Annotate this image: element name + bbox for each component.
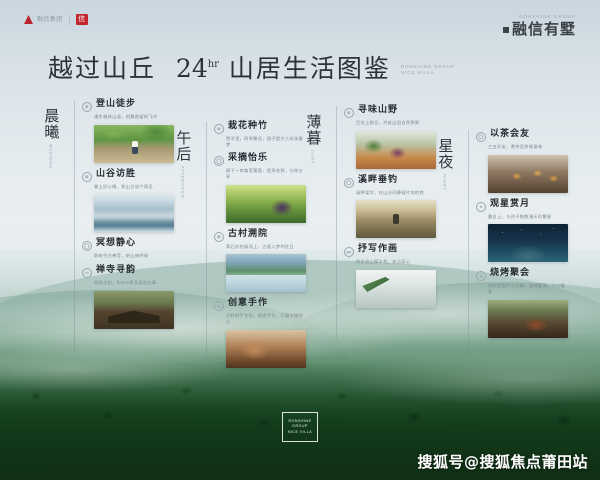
item-name: 抒写作画: [358, 245, 398, 255]
logo-bottom-line1: RONSHINE GROUP: [283, 419, 317, 430]
column-heading-night: 星夜 NIGHT: [428, 138, 462, 190]
list-item[interactable]: 烧烤聚会 园院里围炉火升腾，滋味暖流，人心暖意: [476, 269, 568, 337]
tea-icon: [476, 132, 486, 142]
item-desc: 舌尖上鲜见，共赴山田自然原鲜: [356, 120, 436, 126]
item-thumbnail-grapes[interactable]: [226, 185, 306, 223]
item-desc: 漫步森林山道，把晨跑留给飞鸟: [94, 114, 174, 120]
item-desc: 聆听空谷禅音，听山林呼吸: [94, 253, 174, 259]
column-heading-morning: 晨曦 MORNING: [34, 108, 68, 169]
watermark: 搜狐号@搜狐焦点莆田站: [417, 451, 588, 472]
item-thumbnail-tea[interactable]: [488, 155, 568, 193]
logo-right-cn-text: 融信有墅: [512, 20, 576, 38]
title-en-line2: NICE VILLA: [401, 70, 455, 77]
item-desc: 斑驳古刹，благо青苔诉说往事: [94, 280, 174, 286]
item-desc: 三五好友，煮茶话茶香意味: [488, 144, 568, 150]
hand-icon: [214, 301, 224, 311]
item-thumbnail-misty-valley[interactable]: [94, 194, 174, 232]
column-items: 栽花种竹 院子里，四季繁花，园子是大人的孩童梦 采摘怡乐 摘下一串紫莹葡萄，是采…: [214, 122, 306, 375]
list-item[interactable]: 古村溯院 青石阶拾级而上，古屋入梦的往日: [214, 230, 306, 293]
item-thumbnail-barbecue[interactable]: [488, 300, 568, 338]
bar-icon: [82, 268, 92, 278]
item-name: 观星赏月: [490, 200, 530, 210]
star-icon: [476, 202, 486, 212]
item-desc: 古朴的手艺机，细造手作，打磨学做的心: [226, 313, 306, 324]
column-items: 以茶会友 三五好友，煮茶话茶香意味 观星赏月 露台上，与孩子细数漫天的繁星 烧烤…: [476, 130, 568, 345]
title-en-block: RONSHINE GROUP NICE VILLA: [401, 64, 455, 82]
title-number: 24: [176, 54, 208, 83]
column-heading-en: DUSK: [311, 150, 316, 164]
item-name: 登山徒步: [96, 100, 136, 110]
item-thumbnail-temple[interactable]: [94, 291, 174, 329]
list-item[interactable]: 创意手作 古朴的手艺机，细造手作，打磨学做的心: [214, 299, 306, 367]
title-suffix: 山居生活图鉴: [229, 54, 391, 83]
item-name: 以茶会友: [490, 130, 530, 140]
sun-icon: [82, 102, 92, 112]
item-desc: 掌上好心情，和山谷说个再见: [94, 184, 174, 190]
item-desc: 院子里，四季繁花，园子是大人的孩童梦: [226, 136, 306, 147]
list-item[interactable]: 观星赏月 露台上，与孩子细数漫天的繁星: [476, 200, 568, 263]
logo-divider: [69, 15, 70, 25]
column-heading-en: NIGHT: [443, 174, 448, 190]
logo-right-cn: 融信有墅: [503, 22, 576, 37]
poster-canvas: 融信集团 信 RONSHINE GROUP 融信有墅 越过山丘 24hr 山居生…: [0, 0, 600, 480]
item-thumbnail-starry-night[interactable]: [488, 224, 568, 262]
logo-bottom-line2: NICE VILLA: [283, 430, 317, 435]
list-item[interactable]: 冥想静心 聆听空谷禅音，听山林呼吸: [82, 239, 174, 259]
title-en-line1: RONSHINE GROUP: [401, 64, 455, 71]
title-prefix: 越过山丘: [48, 54, 156, 83]
sprout-icon: [344, 108, 354, 118]
column-heading-afternoon: 午后 AFTERNOON: [166, 130, 200, 198]
item-name: 山谷访胜: [96, 170, 136, 180]
list-item[interactable]: 寻味山野 舌尖上鲜见，共赴山田自然原鲜: [344, 106, 436, 169]
column-divider: [336, 106, 337, 338]
column-divider: [74, 100, 75, 352]
item-thumbnail-handcraft[interactable]: [226, 330, 306, 368]
item-name: 采摘怡乐: [228, 154, 268, 164]
item-desc: 园院里围炉火升腾，滋味暖流，人心暖意: [488, 283, 568, 294]
item-name: 烧烤聚会: [490, 269, 530, 279]
column-heading-cn: 星夜: [437, 138, 454, 170]
list-item[interactable]: 抒写作画 纸花画山摩水色，妄点蕊心: [344, 245, 436, 308]
item-thumbnail-village-river[interactable]: [226, 254, 306, 292]
item-name: 冥想静心: [96, 239, 136, 249]
column-heading-dusk: 薄暮 DUSK: [296, 114, 330, 164]
logo-bottom-frame: RONSHINE GROUP NICE VILLA: [282, 412, 318, 442]
list-item[interactable]: 禅寺寻韵 斑驳古刹，благо青苔诉说往事: [82, 266, 174, 329]
house-icon: [214, 232, 224, 242]
item-desc: 露台上，与孩子细数漫天的繁星: [488, 214, 568, 220]
column-heading-en: MORNING: [49, 144, 54, 169]
column-heading-cn: 午后: [175, 130, 192, 162]
item-thumbnail-fishing[interactable]: [356, 200, 436, 238]
item-thumbnail-vegetables[interactable]: [356, 131, 436, 169]
fish-icon: [344, 178, 354, 188]
leaf-icon: [82, 172, 92, 182]
list-item[interactable]: 栽花种竹 院子里，四季繁花，园子是大人的孩童梦: [214, 122, 306, 147]
list-item[interactable]: 采摘怡乐 摘下一串紫莹葡萄，是采吃鲜，与你分享: [214, 154, 306, 222]
logo-bottom-text: RONSHINE GROUP NICE VILLA: [283, 419, 317, 435]
logo-top-right: RONSHINE GROUP 融信有墅: [503, 14, 576, 37]
timeline-columns: 晨曦 MORNING 登山徒步 漫步森林山道，把晨跑留给飞鸟 山谷访胜 掌上好心…: [0, 100, 600, 410]
column-heading-cn: 薄暮: [305, 114, 322, 146]
item-name: 溪畔垂钓: [358, 176, 398, 186]
list-item[interactable]: 登山徒步 漫步森林山道，把晨跑留给飞鸟: [82, 100, 174, 163]
column-items: 登山徒步 漫步森林山道，把晨跑留给飞鸟 山谷访胜 掌上好心情，和山谷说个再见 冥…: [82, 100, 174, 336]
item-desc: 溪畔架竿，在山谷间静候片刻的悠: [356, 190, 436, 196]
item-name: 古村溯院: [228, 230, 268, 240]
pen-icon: [344, 247, 354, 257]
ronshine-triangle-icon: [24, 15, 33, 24]
logo-top-left: 融信集团 信: [24, 14, 88, 25]
item-desc: 摘下一串紫莹葡萄，是采吃鲜，与你分享: [226, 168, 306, 179]
list-item[interactable]: 山谷访胜 掌上好心情，和山谷说个再见: [82, 170, 174, 233]
column-divider: [468, 130, 469, 356]
list-item[interactable]: 以茶会友 三五好友，煮茶话茶香意味: [476, 130, 568, 193]
flower-icon: [214, 124, 224, 134]
page-title-row: 越过山丘 24hr 山居生活图鉴 RONSHINE GROUP NICE VIL…: [48, 56, 455, 81]
logo-left-group-name: 融信集团: [37, 17, 63, 23]
column-heading-cn: 晨曦: [43, 108, 60, 140]
grape-icon: [214, 156, 224, 166]
list-item[interactable]: 溪畔垂钓 溪畔架竿，在山谷间静候片刻的悠: [344, 176, 436, 239]
title-superscript: hr: [208, 59, 219, 70]
item-name: 创意手作: [228, 299, 268, 309]
item-thumbnail-trail-runner[interactable]: [94, 125, 174, 163]
item-name: 寻味山野: [358, 106, 398, 116]
item-name: 禅寺寻韵: [96, 266, 136, 276]
item-desc: 纸花画山摩水色，妄点蕊心: [356, 259, 436, 265]
logo-square-icon: [503, 27, 509, 33]
item-name: 栽花种竹: [228, 122, 268, 132]
flame-icon: [476, 271, 486, 281]
item-thumbnail-painting[interactable]: [356, 270, 436, 308]
column-items: 寻味山野 舌尖上鲜见，共赴山田自然原鲜 溪畔垂钓 溪畔架竿，在山谷间静候片刻的悠…: [344, 106, 436, 315]
column-divider: [206, 122, 207, 366]
logo-left-badge: 信: [76, 14, 88, 25]
column-heading-en: AFTERNOON: [181, 166, 186, 198]
page-title: 越过山丘 24hr 山居生活图鉴: [48, 56, 391, 81]
ring-icon: [82, 241, 92, 251]
item-desc: 青石阶拾级而上，古屋入梦的往日: [226, 244, 306, 250]
logo-bottom: RONSHINE GROUP NICE VILLA: [282, 412, 318, 442]
